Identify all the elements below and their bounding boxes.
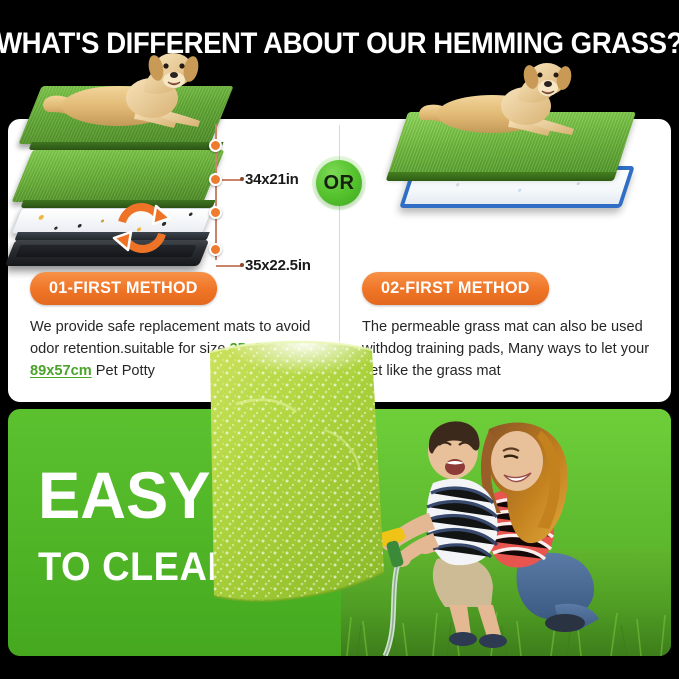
recycle-swap-icon	[108, 194, 176, 262]
layer-stack-illustration	[12, 58, 242, 270]
dimension-label-35x22-5: 35x22.5in	[245, 257, 311, 274]
grass-mat-over-pad-illustration	[398, 70, 648, 250]
method-01-badge: 01-FIRST METHOD	[30, 272, 217, 305]
callout-dot-3	[209, 206, 222, 219]
callout-leader-2	[216, 265, 242, 267]
callout-dot-1	[209, 139, 222, 152]
method-02-badge: 02-FIRST METHOD	[362, 272, 549, 305]
method-01-text-after: Pet Potty	[92, 363, 155, 379]
method-02-body: The permeable grass mat can also be used…	[362, 316, 650, 383]
callout-dot-2	[209, 173, 222, 186]
or-badge: OR	[316, 160, 362, 206]
callout-dot-4	[209, 243, 222, 256]
dog-image-left	[40, 50, 215, 132]
wet-grass-mat-product	[176, 334, 394, 619]
method-block-02: 02-FIRST METHOD The permeable grass mat …	[362, 272, 662, 383]
callout-leader-dot-1	[240, 177, 244, 181]
callout-leader-dot-2	[240, 263, 244, 267]
dimension-label-34x21: 34x21in	[245, 171, 299, 188]
dog-image-right	[416, 60, 586, 140]
method-02-text-before: The permeable grass mat can also be used…	[362, 319, 649, 379]
